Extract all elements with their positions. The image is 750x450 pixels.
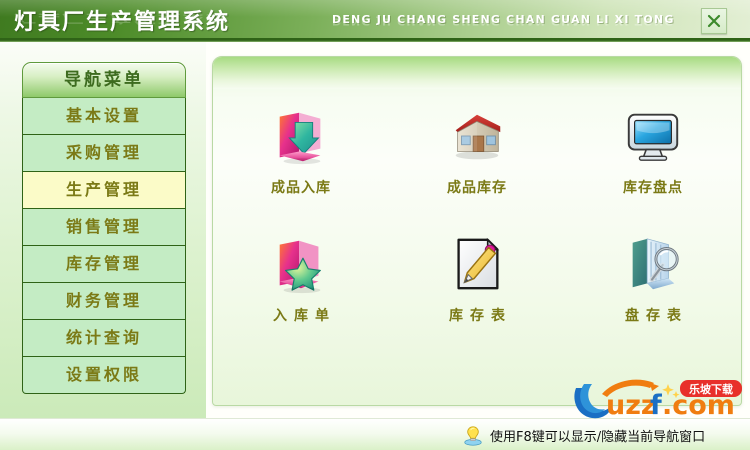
module-icon-label: 库存表 (442, 305, 512, 325)
module-icon-4[interactable]: 入库单 (213, 233, 389, 325)
folder-search-icon (622, 233, 684, 295)
application-window: 灯具厂生产管理系统 灯具厂生产管理系统 DENG JU CHANG SHENG … (0, 0, 750, 450)
module-icon-1[interactable]: 成品入库 (213, 105, 389, 197)
navigation-menu: 导航菜单 基本设置采购管理生产管理销售管理库存管理财务管理统计查询设置权限 (22, 62, 186, 394)
module-icon-label: 成品入库 (271, 177, 331, 197)
app-title-reflection: 灯具厂生产管理系统 (14, 12, 230, 27)
module-icon-2[interactable]: 成品库存 (389, 105, 565, 197)
navigation-panel: 导航菜单 基本设置采购管理生产管理销售管理库存管理财务管理统计查询设置权限 (0, 42, 206, 418)
folder-download-icon (270, 105, 332, 167)
sidebar-item-4[interactable]: 销售管理 (22, 209, 186, 246)
lightbulb-icon (462, 424, 484, 446)
folder-star-icon (270, 233, 332, 295)
sidebar-item-6[interactable]: 财务管理 (22, 283, 186, 320)
module-icon-label: 成品库存 (447, 177, 507, 197)
house-icon (446, 105, 508, 167)
status-hint-group: 使用F8键可以显示/隐藏当前导航窗口 (462, 424, 705, 446)
sidebar-item-7[interactable]: 统计查询 (22, 320, 186, 357)
module-icon-label: 入库单 (266, 305, 336, 325)
sidebar-item-2[interactable]: 采购管理 (22, 135, 186, 172)
module-icon-label: 盘存表 (618, 305, 688, 325)
monitor-icon (622, 105, 684, 167)
workspace: 导航菜单 基本设置采购管理生产管理销售管理库存管理财务管理统计查询设置权限 (0, 42, 750, 418)
sidebar-item-8[interactable]: 设置权限 (22, 357, 186, 394)
app-title-pinyin-reflection: DENG JU CHANG SHENG CHAN GUAN LI XI TONG (332, 16, 675, 27)
module-icon-6[interactable]: 盘存表 (565, 233, 741, 325)
sidebar-item-1[interactable]: 基本设置 (22, 98, 186, 135)
module-icon-5[interactable]: 库存表 (389, 233, 565, 325)
close-button[interactable] (701, 8, 727, 34)
status-hint-text: 使用F8键可以显示/隐藏当前导航窗口 (490, 426, 705, 445)
content-panel-header-strip (213, 57, 741, 89)
content-panel: 成品入库 成品库存 (212, 56, 742, 406)
title-bar: 灯具厂生产管理系统 灯具厂生产管理系统 DENG JU CHANG SHENG … (0, 0, 750, 40)
module-icon-grid: 成品入库 成品库存 (213, 105, 741, 325)
sidebar-item-3[interactable]: 生产管理 (22, 172, 186, 209)
module-icon-label: 库存盘点 (623, 177, 683, 197)
sidebar-item-5[interactable]: 库存管理 (22, 246, 186, 283)
document-pencil-icon (446, 233, 508, 295)
close-x-icon (706, 13, 722, 29)
status-bar: 使用F8键可以显示/隐藏当前导航窗口 (0, 418, 750, 450)
module-icon-3[interactable]: 库存盘点 (565, 105, 741, 197)
navigation-menu-header: 导航菜单 (22, 62, 186, 98)
